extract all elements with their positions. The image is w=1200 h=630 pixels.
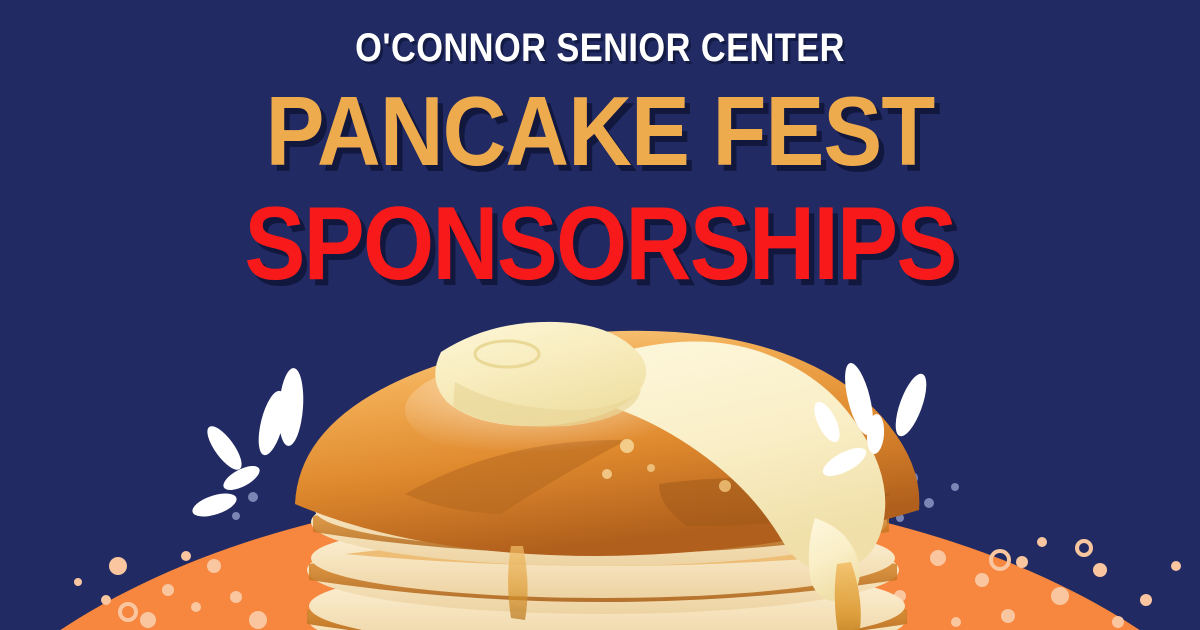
peach-speckle-dot xyxy=(1037,537,1047,547)
peach-speckle-dot xyxy=(207,559,221,573)
peach-speckle-dot xyxy=(74,578,82,586)
sparkle-blade xyxy=(202,421,248,474)
peach-speckle-dot xyxy=(162,584,174,596)
peach-speckle-ring xyxy=(989,549,1011,571)
event-subtitle: SPONSORSHIPS xyxy=(72,192,1128,296)
peach-speckle-dot xyxy=(951,617,961,627)
title-block: O'CONNOR SENIOR CENTER PANCAKE FEST SPON… xyxy=(0,0,1200,296)
poster-canvas: O'CONNOR SENIOR CENTER PANCAKE FEST SPON… xyxy=(0,0,1200,630)
peach-speckle-dot xyxy=(1093,563,1107,577)
peach-speckle-dot xyxy=(109,557,127,575)
peach-speckle-dot xyxy=(1112,616,1124,628)
peach-speckle-dot xyxy=(101,595,111,605)
organization-name: O'CONNOR SENIOR CENTER xyxy=(84,28,1116,68)
peach-speckle-dot xyxy=(1016,556,1028,568)
sparkle-blade xyxy=(809,398,844,445)
navy-speckle-dot xyxy=(951,483,959,491)
peach-speckle-dot xyxy=(1051,587,1069,605)
peach-speckle-dot xyxy=(191,602,201,612)
sparkle-blade xyxy=(276,367,305,446)
peach-speckle-ring xyxy=(118,602,138,622)
peach-speckle-dot xyxy=(140,612,156,628)
event-title: PANCAKE FEST xyxy=(60,82,1140,180)
peach-speckle-dot xyxy=(1001,609,1015,623)
sparkle-blade xyxy=(819,442,870,481)
peach-speckle-dot xyxy=(181,551,191,561)
sparkle-burst-right xyxy=(782,352,932,532)
peach-speckle-dot xyxy=(1140,594,1152,606)
sparkle-burst-left xyxy=(205,360,355,540)
sparkle-blade xyxy=(889,370,932,440)
peach-speckle-dot xyxy=(975,573,989,587)
peach-speckle-ring xyxy=(1075,539,1093,557)
peach-speckle-dot xyxy=(1171,561,1181,571)
peach-speckle-dot xyxy=(230,591,242,603)
